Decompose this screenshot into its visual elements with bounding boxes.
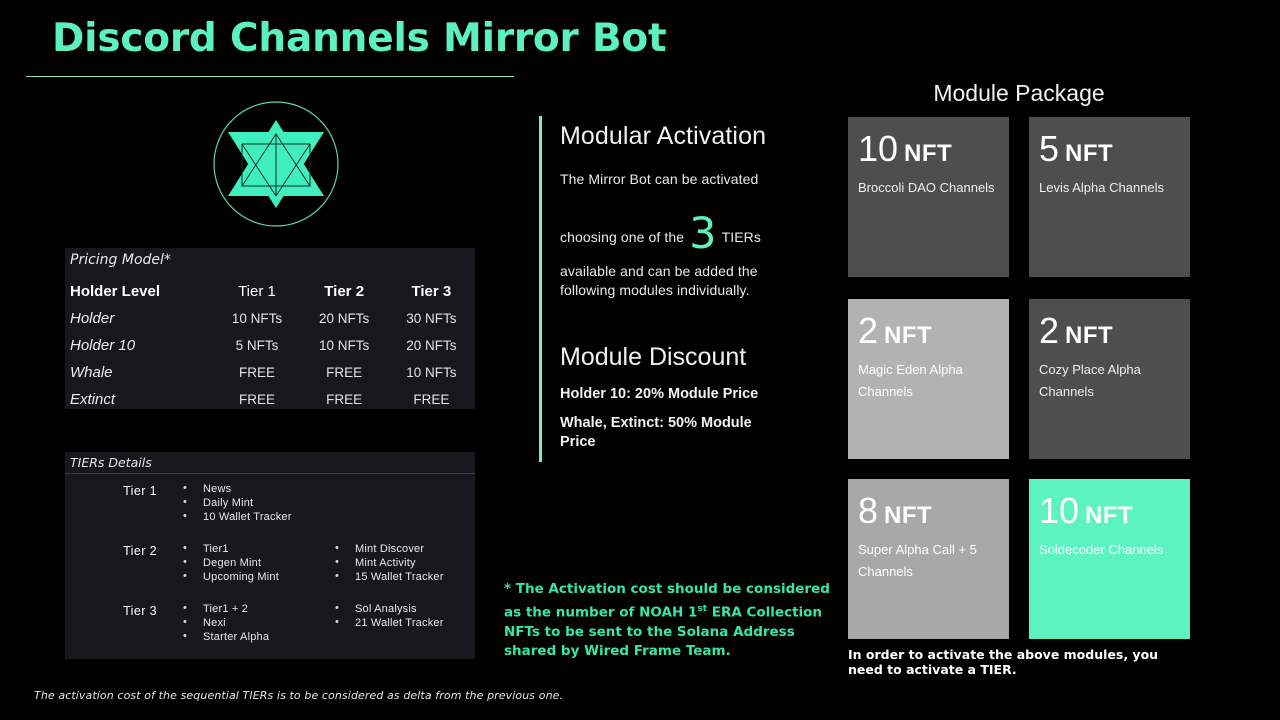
tier-row-1: Tier 1 News Daily Mint 10 Wallet Tracker	[65, 482, 475, 524]
list-item: Sol Analysis	[323, 602, 475, 616]
pricing-cell: 20 NFTs	[388, 332, 475, 359]
pricing-cell: 5 NFTs	[213, 332, 300, 359]
page-title: Discord Channels Mirror Bot	[52, 16, 666, 61]
list-item: Upcoming Mint	[171, 570, 323, 584]
modular-activation-heading: Modular Activation	[560, 122, 766, 151]
table-row: Extinct FREE FREE FREE	[65, 386, 475, 413]
pricing-model-panel: Pricing Model* Holder Level Tier 1 Tier …	[65, 248, 475, 409]
table-row: Holder 10 5 NFTs 10 NFTs 20 NFTs	[65, 332, 475, 359]
pricing-level: Holder	[65, 305, 213, 332]
table-row: Whale FREE FREE 10 NFTs	[65, 359, 475, 386]
amount-number: 5	[1039, 128, 1059, 169]
module-card-desc: Broccoli DAO Channels	[858, 177, 999, 199]
tiers-divider	[65, 473, 475, 474]
tier-feature-list-a: News Daily Mint 10 Wallet Tracker	[171, 482, 323, 524]
module-card-cozy-place-alpha[interactable]: 2NFT Cozy Place Alpha Channels	[1029, 299, 1190, 459]
footer-note: The activation cost of the sequential TI…	[34, 689, 563, 702]
module-discount-heading: Module Discount	[560, 343, 746, 372]
pricing-header-row: Holder Level Tier 1 Tier 2 Tier 3	[65, 278, 475, 305]
amount-unit: NFT	[1059, 140, 1113, 167]
module-card-desc: Magic Eden Alpha Channels	[858, 359, 999, 403]
list-item: Starter Alpha	[171, 630, 323, 644]
tier-feature-list-a: Tier1 + 2 Nexi Starter Alpha	[171, 602, 323, 644]
module-card-desc: Super Alpha Call + 5 Channels	[858, 539, 999, 583]
module-activation-requirement-note: In order to activate the above modules, …	[848, 648, 1168, 677]
ordinal-suffix: st	[697, 604, 707, 614]
module-card-magic-eden-alpha[interactable]: 2NFT Magic Eden Alpha Channels	[848, 299, 1009, 459]
list-item: 10 Wallet Tracker	[171, 510, 323, 524]
pricing-cell: 30 NFTs	[388, 305, 475, 332]
list-item: Mint Activity	[323, 556, 475, 570]
pricing-cell: FREE	[213, 359, 300, 386]
tier-feature-list-b: Sol Analysis 21 Wallet Tracker	[323, 602, 475, 644]
pricing-cell: 20 NFTs	[301, 305, 388, 332]
amount-number: 10	[1039, 490, 1079, 531]
list-item: Tier1 + 2	[171, 602, 323, 616]
modular-activation-para-2: choosing one of the3TIERs	[560, 228, 820, 247]
activation-cost-note: * The Activation cost should be consider…	[504, 580, 840, 662]
table-row: Holder 10 NFTs 20 NFTs 30 NFTs	[65, 305, 475, 332]
list-item: Degen Mint	[171, 556, 323, 570]
amount-unit: NFT	[878, 322, 932, 349]
merkaba-star-tetrahedron-icon	[212, 100, 340, 228]
accent-vertical-bar	[539, 116, 542, 462]
pricing-col-level: Holder Level	[65, 278, 213, 305]
amount-number: 2	[858, 310, 878, 351]
module-card-desc: Levis Alpha Channels	[1039, 177, 1180, 199]
pricing-level: Holder 10	[65, 332, 213, 359]
tier-feature-list-b	[323, 482, 475, 524]
title-divider	[26, 76, 514, 77]
tiers-caption: TIERs Details	[70, 455, 152, 470]
list-item: Tier1	[171, 542, 323, 556]
module-card-amount: 10NFT	[1039, 491, 1180, 536]
amount-unit: NFT	[898, 140, 952, 167]
tier-row-3: Tier 3 Tier1 + 2 Nexi Starter Alpha Sol …	[65, 602, 475, 644]
pricing-cell: FREE	[301, 386, 388, 413]
pricing-col-tier3: Tier 3	[388, 278, 475, 305]
tier-name: Tier 1	[65, 482, 171, 524]
module-card-super-alpha-call[interactable]: 8NFT Super Alpha Call + 5 Channels	[848, 479, 1009, 639]
module-card-broccoli-dao[interactable]: 10NFT Broccoli DAO Channels	[848, 117, 1009, 277]
pricing-cell: FREE	[388, 386, 475, 413]
list-item: News	[171, 482, 323, 496]
modular-activation-para-1: The Mirror Bot can be activated	[560, 170, 810, 189]
module-card-desc: Cozy Place Alpha Channels	[1039, 359, 1180, 403]
module-card-desc: Soldecoder Channels	[1039, 539, 1180, 561]
module-card-amount: 2NFT	[1039, 311, 1180, 356]
pricing-cell: 10 NFTs	[388, 359, 475, 386]
tier-name: Tier 3	[65, 602, 171, 644]
list-item: 15 Wallet Tracker	[323, 570, 475, 584]
pricing-cell: FREE	[301, 359, 388, 386]
pricing-col-tier2: Tier 2	[301, 278, 388, 305]
slide-root: Discord Channels Mirror Bot Pricing Mode…	[0, 0, 1280, 720]
module-card-amount: 8NFT	[858, 491, 999, 536]
tier-name: Tier 2	[65, 542, 171, 584]
pricing-cell: 10 NFTs	[213, 305, 300, 332]
amount-unit: NFT	[878, 502, 932, 529]
pricing-table: Holder Level Tier 1 Tier 2 Tier 3 Holder…	[65, 278, 475, 413]
tiers-details-panel: TIERs Details Tier 1 News Daily Mint 10 …	[65, 452, 475, 659]
pricing-cell: FREE	[213, 386, 300, 413]
amount-number: 8	[858, 490, 878, 531]
pricing-col-tier1: Tier 1	[213, 278, 300, 305]
module-discount-line-1: Holder 10: 20% Module Price	[560, 385, 820, 404]
list-item: 21 Wallet Tracker	[323, 616, 475, 630]
amount-number: 10	[858, 128, 898, 169]
module-discount-line-2: Whale, Extinct: 50% Module Price	[560, 414, 775, 452]
pricing-caption: Pricing Model*	[70, 252, 171, 268]
pricing-cell: 10 NFTs	[301, 332, 388, 359]
tier-feature-list-b: Mint Discover Mint Activity 15 Wallet Tr…	[323, 542, 475, 584]
tier-count-number: 3	[684, 209, 721, 259]
amount-unit: NFT	[1079, 502, 1133, 529]
module-package-title: Module Package	[848, 80, 1190, 107]
list-item: Daily Mint	[171, 496, 323, 510]
module-card-levis-alpha[interactable]: 5NFT Levis Alpha Channels	[1029, 117, 1190, 277]
module-card-soldecoder[interactable]: 10NFT Soldecoder Channels	[1029, 479, 1190, 639]
pricing-level: Extinct	[65, 386, 213, 413]
pricing-level: Whale	[65, 359, 213, 386]
tier-row-2: Tier 2 Tier1 Degen Mint Upcoming Mint Mi…	[65, 542, 475, 584]
list-item: Mint Discover	[323, 542, 475, 556]
para2-before: choosing one of the	[560, 229, 684, 245]
amount-number: 2	[1039, 310, 1059, 351]
module-card-amount: 5NFT	[1039, 129, 1180, 174]
module-card-amount: 2NFT	[858, 311, 999, 356]
amount-unit: NFT	[1059, 322, 1113, 349]
list-item: Nexi	[171, 616, 323, 630]
module-card-amount: 10NFT	[858, 129, 999, 174]
para2-after: TIERs	[722, 229, 761, 245]
tier-feature-list-a: Tier1 Degen Mint Upcoming Mint	[171, 542, 323, 584]
modular-activation-para-3: available and can be added the following…	[560, 262, 800, 300]
